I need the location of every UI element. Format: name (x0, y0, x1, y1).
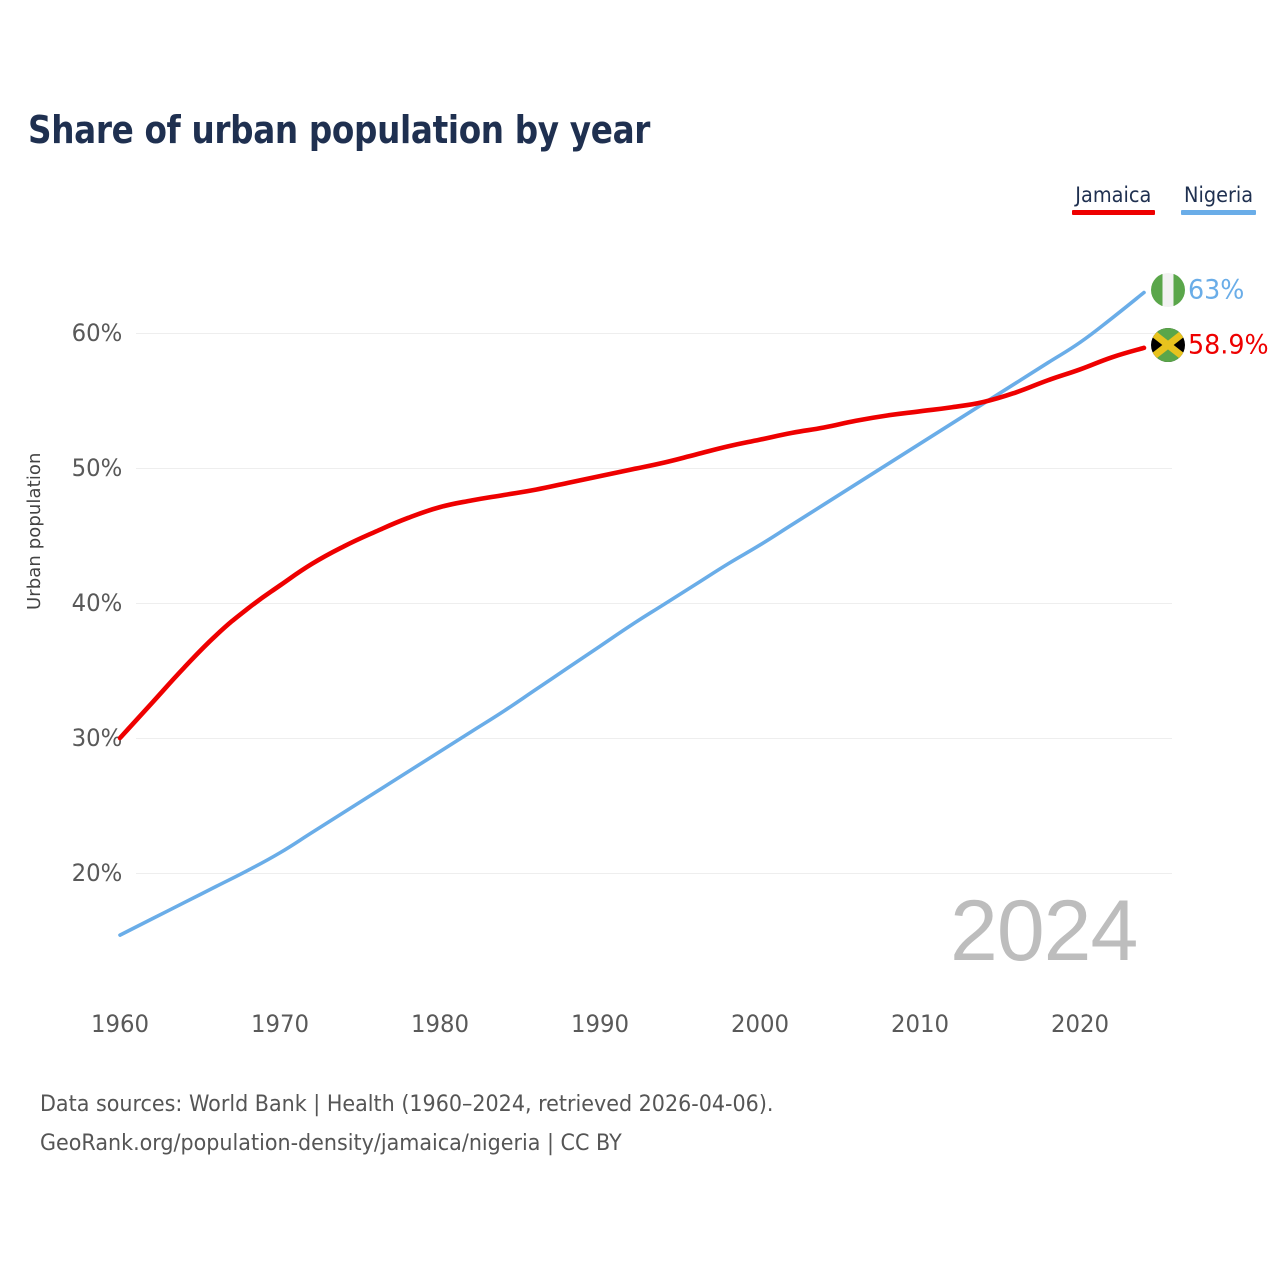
endpoint-value-nigeria: 63% (1188, 275, 1244, 306)
footer-line-1: Data sources: World Bank | Health (1960–… (40, 1086, 773, 1125)
gridline-50 (136, 468, 1172, 469)
footer-line-2: GeoRank.org/population-density/jamaica/n… (40, 1125, 773, 1164)
chart-page: Share of urban population by year Jamaic… (0, 0, 1280, 1280)
xtick-2020: 2020 (1051, 1010, 1109, 1038)
xtick-2000: 2000 (731, 1010, 789, 1038)
nigeria-flag-icon (1151, 273, 1185, 307)
gridline-60 (136, 333, 1172, 334)
year-watermark: 2024 (950, 888, 1137, 974)
gridline-20 (136, 873, 1172, 874)
footer-credits: Data sources: World Bank | Health (1960–… (40, 1086, 773, 1163)
y-axis-title: Urban population (24, 452, 45, 610)
gridline-40 (136, 603, 1172, 604)
xtick-2010: 2010 (891, 1010, 949, 1038)
endpoint-value-jamaica: 58.9% (1188, 330, 1269, 361)
line-nigeria (120, 293, 1144, 936)
xtick-1990: 1990 (571, 1010, 629, 1038)
ytick-60: 60% (71, 319, 122, 347)
ytick-20: 20% (71, 859, 122, 887)
jamaica-flag-icon (1151, 328, 1185, 362)
ytick-40: 40% (71, 589, 122, 617)
ytick-50: 50% (71, 454, 122, 482)
xtick-1980: 1980 (411, 1010, 469, 1038)
ytick-30: 30% (71, 724, 122, 752)
xtick-1960: 1960 (91, 1010, 149, 1038)
line-jamaica (120, 348, 1144, 738)
xtick-1970: 1970 (251, 1010, 309, 1038)
gridline-30 (136, 738, 1172, 739)
